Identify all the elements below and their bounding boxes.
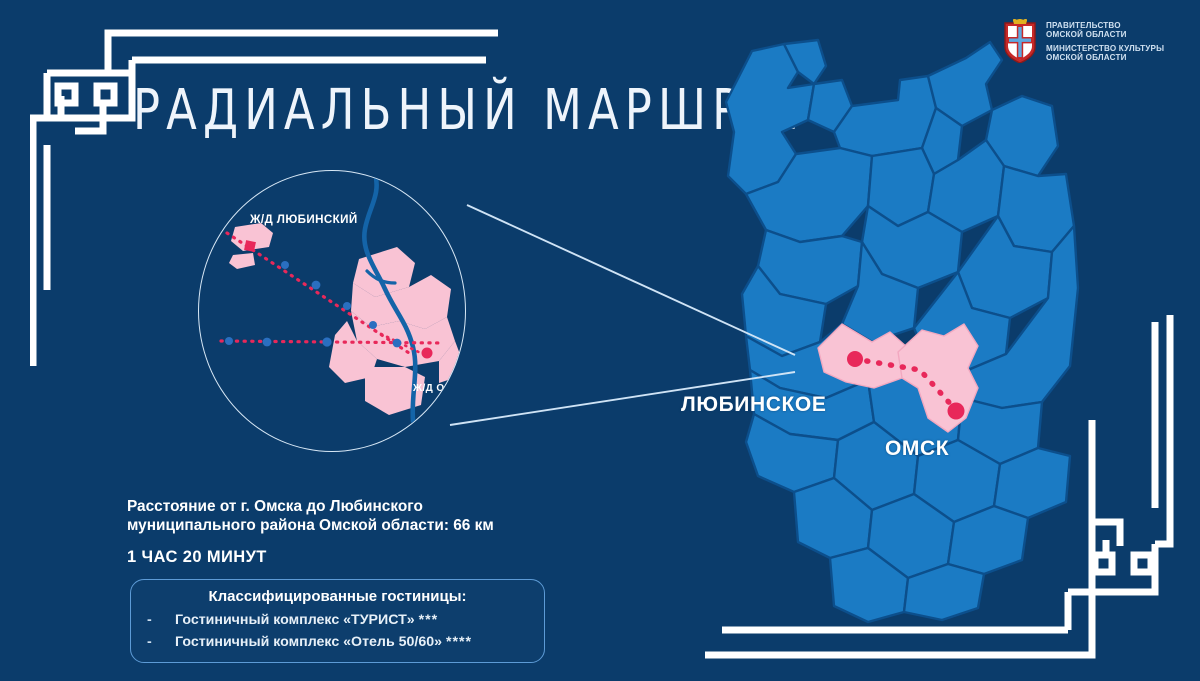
magnifier[interactable]: Ж/Д ЛЮБИНСКИЙ Ж/Д ОМСК — [198, 170, 466, 452]
hotel-name: Гостиничный комплекс «Отель 50/60» — [175, 634, 442, 650]
distance-line-2: муниципального района Омской области: 66… — [127, 516, 597, 535]
logo-line-1: ПРАВИТЕЛЬСТВО — [1046, 21, 1164, 30]
page-title: РАДИАЛЬНЫЙ МАРШРУТ — [133, 78, 812, 143]
marker-lyubinskoe[interactable] — [847, 351, 863, 367]
station-dot — [225, 337, 233, 345]
station-dot — [312, 281, 321, 290]
terminal-omsk[interactable] — [422, 348, 433, 359]
magnifier-label-zd-lyubinsky: Ж/Д ЛЮБИНСКИЙ — [250, 213, 358, 226]
marker-omsk[interactable] — [948, 403, 965, 420]
map-label-omsk: ОМСК — [885, 437, 949, 461]
station-dot — [263, 338, 272, 347]
hotel-bullet: - — [147, 612, 175, 628]
station-dot — [322, 337, 331, 346]
magnifier-label-zd-omsk: Ж/Д ОМСК — [413, 383, 466, 394]
hotel-list-item: -Гостиничный комплекс «Отель 50/60» **** — [147, 634, 534, 650]
patch-lyubinsky-b — [229, 253, 255, 269]
hotels-heading: Классифицированные гостиницы: — [131, 588, 544, 605]
terminal-lyubinsky[interactable] — [244, 240, 256, 252]
distance-line-1: Расстояние от г. Омска до Любинского — [127, 497, 597, 516]
station-dot — [393, 339, 402, 348]
hotel-list-item: -Гостиничный комплекс «ТУРИСТ» *** — [147, 612, 534, 628]
omsk-oblast-map[interactable]: ЛЮБИНСКОЕ ОМСК — [722, 36, 1082, 626]
hotel-name: Гостиничный комплекс «ТУРИСТ» — [175, 612, 415, 628]
distance-text: Расстояние от г. Омска до Любинского мун… — [127, 497, 597, 535]
duration-text: 1 ЧАС 20 МИНУТ — [127, 548, 267, 567]
map-label-lyubinskoe: ЛЮБИНСКОЕ — [681, 393, 826, 417]
hotel-stars: **** — [446, 634, 472, 650]
magnifier-circle: Ж/Д ЛЮБИНСКИЙ Ж/Д ОМСК — [198, 170, 466, 452]
hotels-panel: Классифицированные гостиницы: -Гостиничн… — [130, 579, 545, 663]
station-dot — [281, 261, 289, 269]
hotel-bullet: - — [147, 634, 175, 650]
omsk-oblast-map-svg — [722, 36, 1082, 626]
hotel-stars: *** — [419, 612, 439, 628]
slide-canvas: РАДИАЛЬНЫЙ МАРШРУТ ПРАВИТЕЛЬСТВО ОМСКОЙ … — [0, 0, 1200, 681]
station-dot — [369, 321, 377, 329]
station-dot — [343, 302, 351, 310]
